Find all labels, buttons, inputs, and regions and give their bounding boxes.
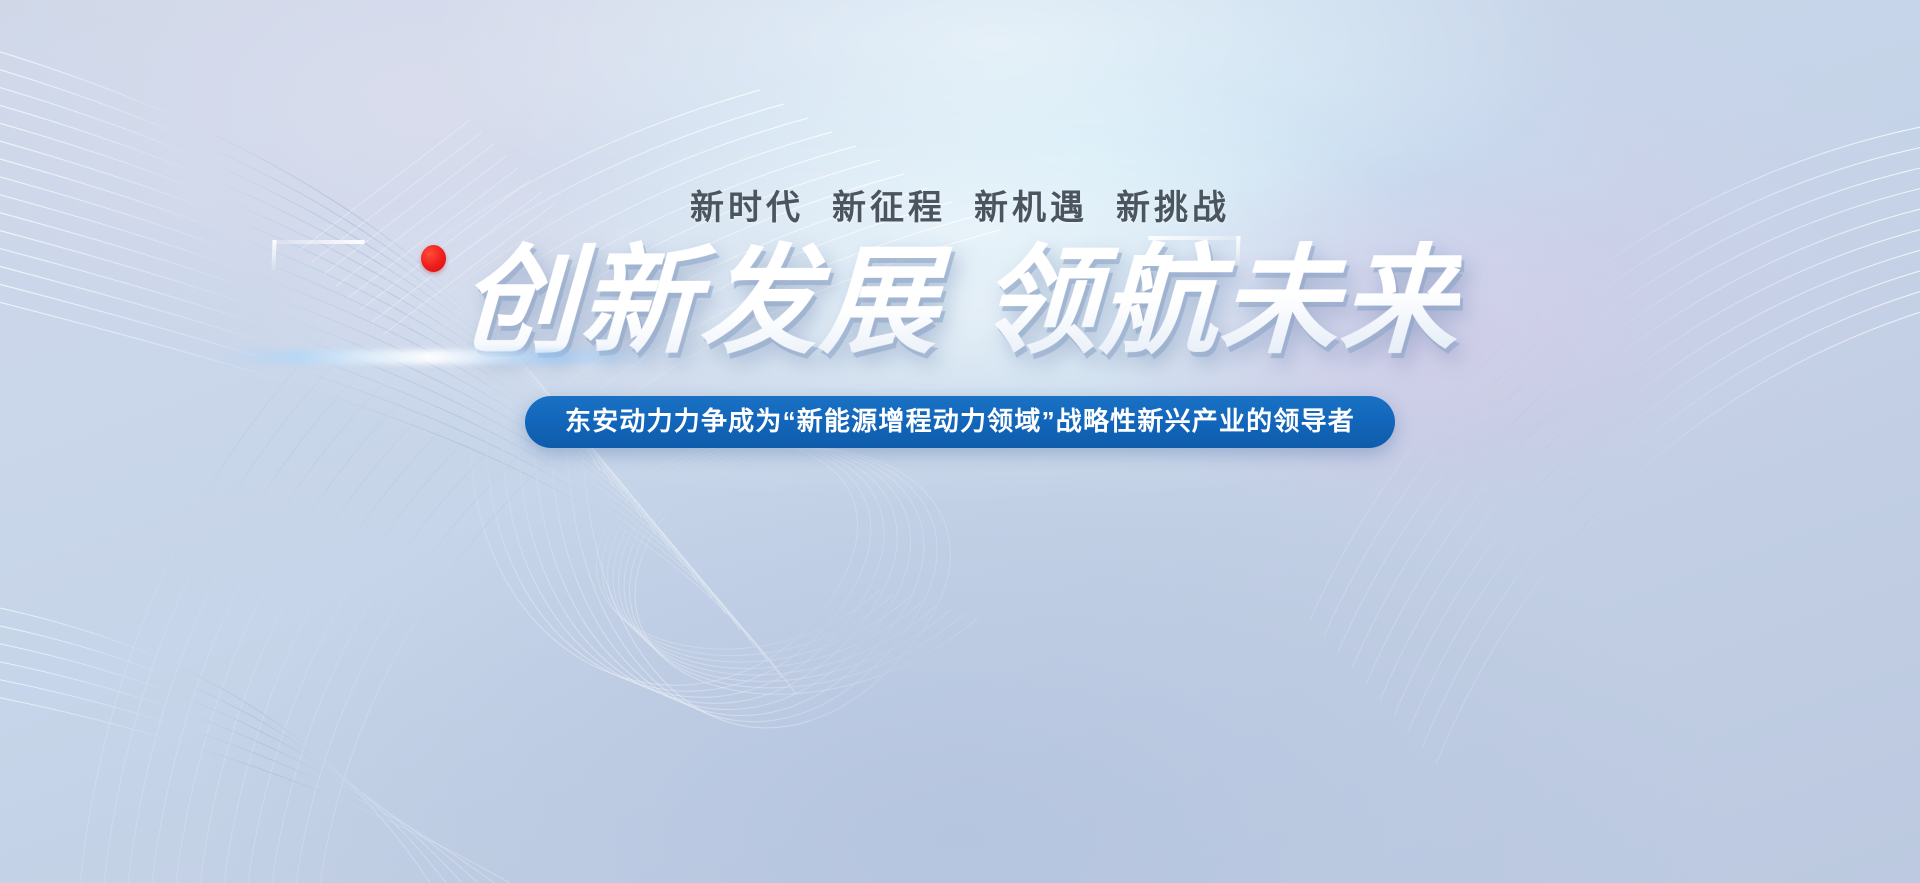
red-dot-accent-icon	[421, 245, 446, 272]
kicker-segment-4: 新挑战	[1116, 189, 1230, 227]
kicker-segment-3: 新机遇	[974, 189, 1088, 227]
banner-kicker: 新时代新征程新机遇新挑战	[0, 180, 1920, 229]
promotional-banner: 新时代新征程新机遇新挑战 创新发展领航未来 东安动力力争成为“新能源增程动力领域…	[0, 0, 1920, 883]
headline-part-left: 创新发展	[458, 236, 943, 368]
kicker-segment-2: 新征程	[832, 189, 946, 227]
slogan-row: 东安动力力争成为“新能源增程动力领域”战略性新兴产业的领导者	[0, 396, 1920, 448]
banner-headline-wrapper: 创新发展领航未来	[0, 232, 1920, 372]
headline-part-right: 领航未来	[978, 236, 1463, 368]
kicker-segment-1: 新时代	[690, 189, 804, 227]
banner-headline: 创新发展领航未来	[458, 232, 1463, 372]
slogan-pill: 东安动力力争成为“新能源增程动力领域”战略性新兴产业的领导者	[525, 396, 1395, 448]
